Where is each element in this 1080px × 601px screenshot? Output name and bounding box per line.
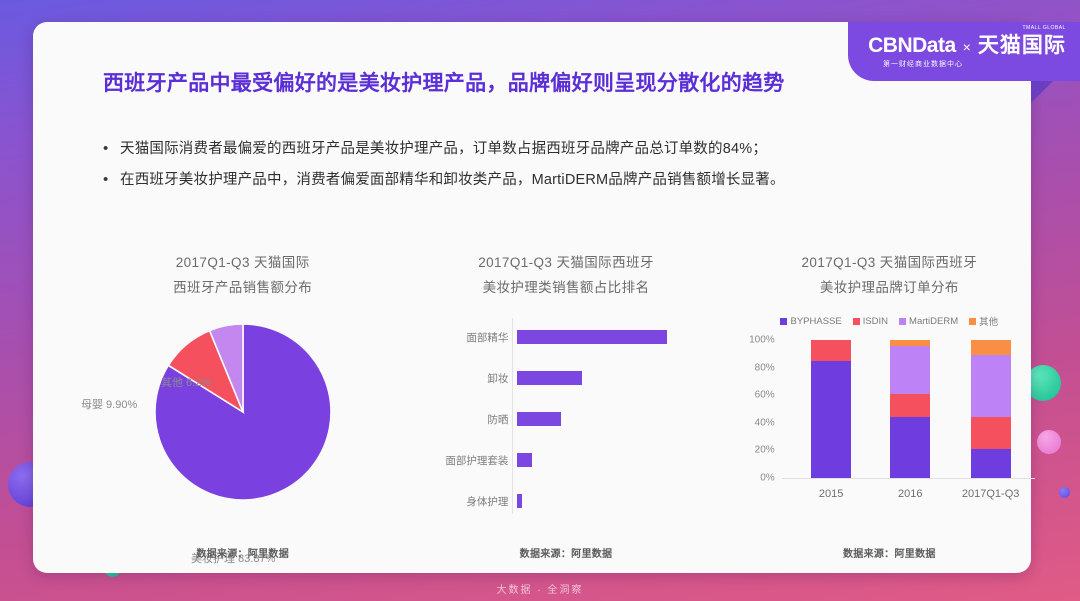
list-item: • 天猫国际消费者最偏爱的西班牙产品是美妆护理产品，订单数占据西班牙品牌产品总订…	[103, 138, 1033, 160]
logo-cbndata-text: CBNData	[868, 35, 956, 56]
y-axis-tick-label: 100%	[749, 335, 782, 346]
y-axis-tick-label: 20%	[755, 445, 782, 456]
hbar-fill	[517, 412, 561, 426]
hbar-row: 面部护理套装	[404, 453, 727, 467]
stacked-bar-column	[971, 340, 1011, 478]
page-title: 西班牙产品中最受偏好的是美妆护理产品，品牌偏好则呈现分散化的趋势	[103, 70, 793, 98]
chart-panel-pie: 2017Q1-Q3 天猫国际 西班牙产品销售额分布 其他 6.2% 母婴 9.9…	[81, 250, 404, 560]
logo-cross-icon: ×	[963, 40, 971, 56]
chart-source: 数据来源：阿里数据	[728, 545, 1051, 560]
logo-subtitle: 第一财经商业数据中心	[883, 59, 963, 69]
y-axis-tick-label: 60%	[755, 390, 782, 401]
stacked-bar-segment	[890, 346, 930, 394]
legend-item[interactable]: BYPHASSE	[780, 316, 841, 327]
chart-title-line2: 美妆护理类销售额占比排名	[404, 275, 727, 300]
chart-title-line1: 2017Q1-Q3 天猫国际	[81, 250, 404, 275]
stacked-bar-segment	[811, 361, 851, 478]
stacked-bar-segment	[971, 355, 1011, 417]
y-axis-tick-label: 40%	[755, 417, 782, 428]
legend-swatch-icon	[780, 318, 787, 325]
bullet-text: 在西班牙美妆护理产品中，消费者偏爱面部精华和卸妆类产品，MartiDERM品牌产…	[120, 169, 785, 191]
stacked-bar-segment	[890, 394, 930, 417]
x-axis-tick-label: 2015	[819, 488, 843, 500]
stacked-bar-plot-area: 0%20%40%60%80%100%201520162017Q1-Q3	[782, 340, 1029, 478]
bullet-list: • 天猫国际消费者最偏爱的西班牙产品是美妆护理产品，订单数占据西班牙品牌产品总订…	[103, 138, 1033, 200]
hbar-row: 面部精华	[404, 330, 727, 344]
hbar-category-label: 防晒	[404, 412, 517, 427]
list-item: • 在西班牙美妆护理产品中，消费者偏爱面部精华和卸妆类产品，MartiDERM品…	[103, 169, 1033, 191]
bullet-marker-icon: •	[103, 138, 120, 160]
chart-title-line1: 2017Q1-Q3 天猫国际西班牙	[404, 250, 727, 275]
chart-panel-stacked: 2017Q1-Q3 天猫国际西班牙 美妆护理品牌订单分布 BYPHASSEISD…	[728, 250, 1051, 560]
chart-panels: 2017Q1-Q3 天猫国际 西班牙产品销售额分布 其他 6.2% 母婴 9.9…	[81, 250, 1051, 560]
decorative-dot-blue-right	[1059, 487, 1070, 498]
stacked-bar-segment	[811, 340, 851, 361]
legend-label: 其他	[979, 314, 998, 328]
x-axis-tick-label: 2016	[898, 488, 922, 500]
pie-label-other: 其他 6.2%	[161, 374, 211, 390]
hbar-fill	[517, 453, 532, 467]
legend-label: BYPHASSE	[790, 316, 841, 327]
hbar-category-label: 卸妆	[404, 371, 517, 386]
x-axis-tick-label: 2017Q1-Q3	[962, 488, 1019, 500]
stacked-bar-column	[811, 340, 851, 478]
brand-logo-banner: CBNData × TMALL GLOBAL 天猫国际 第一财经商业数据中心	[848, 22, 1080, 81]
hbar-category-label: 身体护理	[404, 494, 517, 509]
hbar-row: 防晒	[404, 412, 727, 426]
chart-source: 数据来源：阿里数据	[81, 545, 404, 560]
chart-title-line1: 2017Q1-Q3 天猫国际西班牙	[728, 250, 1051, 275]
legend-item[interactable]: ISDIN	[853, 316, 888, 327]
bullet-marker-icon: •	[103, 169, 120, 191]
legend-label: MartiDERM	[909, 316, 958, 327]
legend-item[interactable]: 其他	[969, 314, 998, 328]
hbar-category-label: 面部精华	[404, 330, 517, 345]
footer-tagline: 大数据 · 全洞察	[0, 581, 1080, 596]
bullet-text: 天猫国际消费者最偏爱的西班牙产品是美妆护理产品，订单数占据西班牙品牌产品总订单数…	[120, 138, 767, 160]
logo-banner-fold	[1031, 81, 1053, 103]
stacked-bar-segment	[971, 417, 1011, 449]
pie-chart: 其他 6.2% 母婴 9.90% 美妆护理 83.87%	[81, 312, 404, 512]
logo-tmall-superscript: TMALL GLOBAL	[1023, 26, 1066, 31]
chart-panel-hbar: 2017Q1-Q3 天猫国际西班牙 美妆护理类销售额占比排名 面部精华卸妆防晒面…	[404, 250, 727, 560]
stacked-bar-chart: 0%20%40%60%80%100%201520162017Q1-Q3	[728, 336, 1051, 514]
logo-tmall-cn: 天猫国际	[978, 34, 1066, 57]
y-axis-tick-label: 80%	[755, 362, 782, 373]
legend-item[interactable]: MartiDERM	[899, 316, 958, 327]
pie-chart-svg	[143, 312, 343, 512]
chart-title-line2: 美妆护理品牌订单分布	[728, 275, 1051, 300]
stacked-bar-segment	[971, 340, 1011, 355]
y-axis-tick-label: 0%	[760, 473, 781, 484]
hbar-category-label: 面部护理套装	[404, 453, 517, 468]
hbar-row: 身体护理	[404, 494, 727, 508]
legend-swatch-icon	[853, 318, 860, 325]
legend-swatch-icon	[899, 318, 906, 325]
pie-label-baby: 母婴 9.90%	[81, 396, 137, 412]
chart-title-line2: 西班牙产品销售额分布	[81, 275, 404, 300]
hbar-row: 卸妆	[404, 371, 727, 385]
horizontal-bar-chart: 面部精华卸妆防晒面部护理套装身体护理	[404, 318, 727, 514]
stacked-bar-baseline	[782, 478, 1035, 479]
slide-card: 西班牙产品中最受偏好的是美妆护理产品，品牌偏好则呈现分散化的趋势 • 天猫国际消…	[33, 22, 1031, 573]
stacked-bar-segment	[971, 449, 1011, 478]
chart-legend: BYPHASSEISDINMartiDERM其他	[728, 314, 1051, 328]
stacked-bar-column	[890, 340, 930, 478]
logo-tmall-text: TMALL GLOBAL 天猫国际	[978, 35, 1066, 56]
chart-source: 数据来源：阿里数据	[404, 545, 727, 560]
hbar-fill	[517, 371, 582, 385]
hbar-fill	[517, 494, 522, 508]
legend-swatch-icon	[969, 318, 976, 325]
hbar-fill	[517, 330, 667, 344]
legend-label: ISDIN	[863, 316, 888, 327]
stacked-bar-segment	[890, 417, 930, 478]
